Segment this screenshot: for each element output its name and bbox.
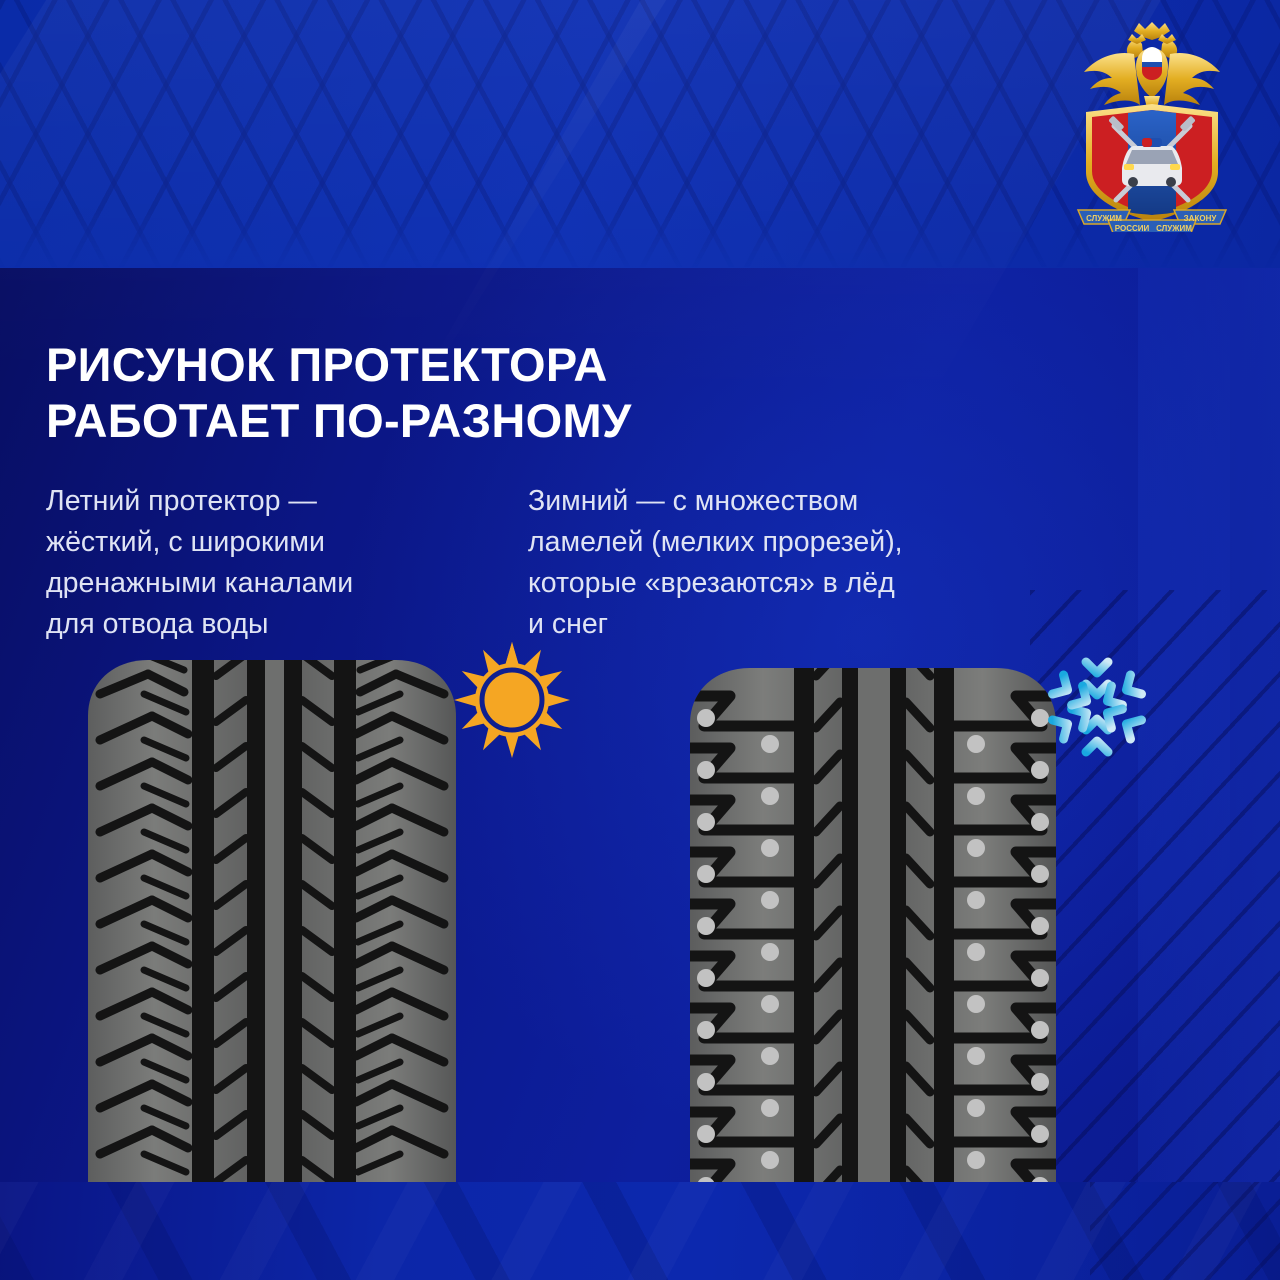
summer-description: Летний протектор — жёсткий, с широкими д…	[46, 481, 516, 645]
winter-description: Зимний — с множеством ламелей (мелких пр…	[528, 481, 1048, 645]
infographic-canvas: СЛУЖИМ ЗАКОНУ РОССИИ СЛУЖИМ РИСУНОК ПРОТ…	[0, 0, 1280, 1280]
background-bottom-chevrons	[0, 1182, 1280, 1280]
background-bottom-stripes	[1090, 1182, 1280, 1280]
ribbon-text-right: ЗАКОНУ	[1184, 214, 1218, 223]
gibdd-emblem: СЛУЖИМ ЗАКОНУ РОССИИ СЛУЖИМ	[1066, 14, 1238, 232]
winter-tire	[690, 668, 1056, 1190]
ribbon-text-center-2: СЛУЖИМ	[1156, 224, 1192, 232]
summer-tire	[88, 660, 456, 1190]
emblem-shield	[1086, 104, 1218, 222]
sun-icon	[452, 640, 572, 760]
page-title: РИСУНОК ПРОТЕКТОРА РАБОТАЕТ ПО-РАЗНОМУ	[46, 337, 906, 448]
ribbon-text-center-1: РОССИИ	[1115, 224, 1150, 232]
double-headed-eagle-icon	[1084, 22, 1220, 114]
snowflake-icon	[1042, 652, 1152, 762]
ribbon-text-left: СЛУЖИМ	[1086, 214, 1122, 223]
eagle-breast-shield-icon	[1142, 47, 1162, 80]
